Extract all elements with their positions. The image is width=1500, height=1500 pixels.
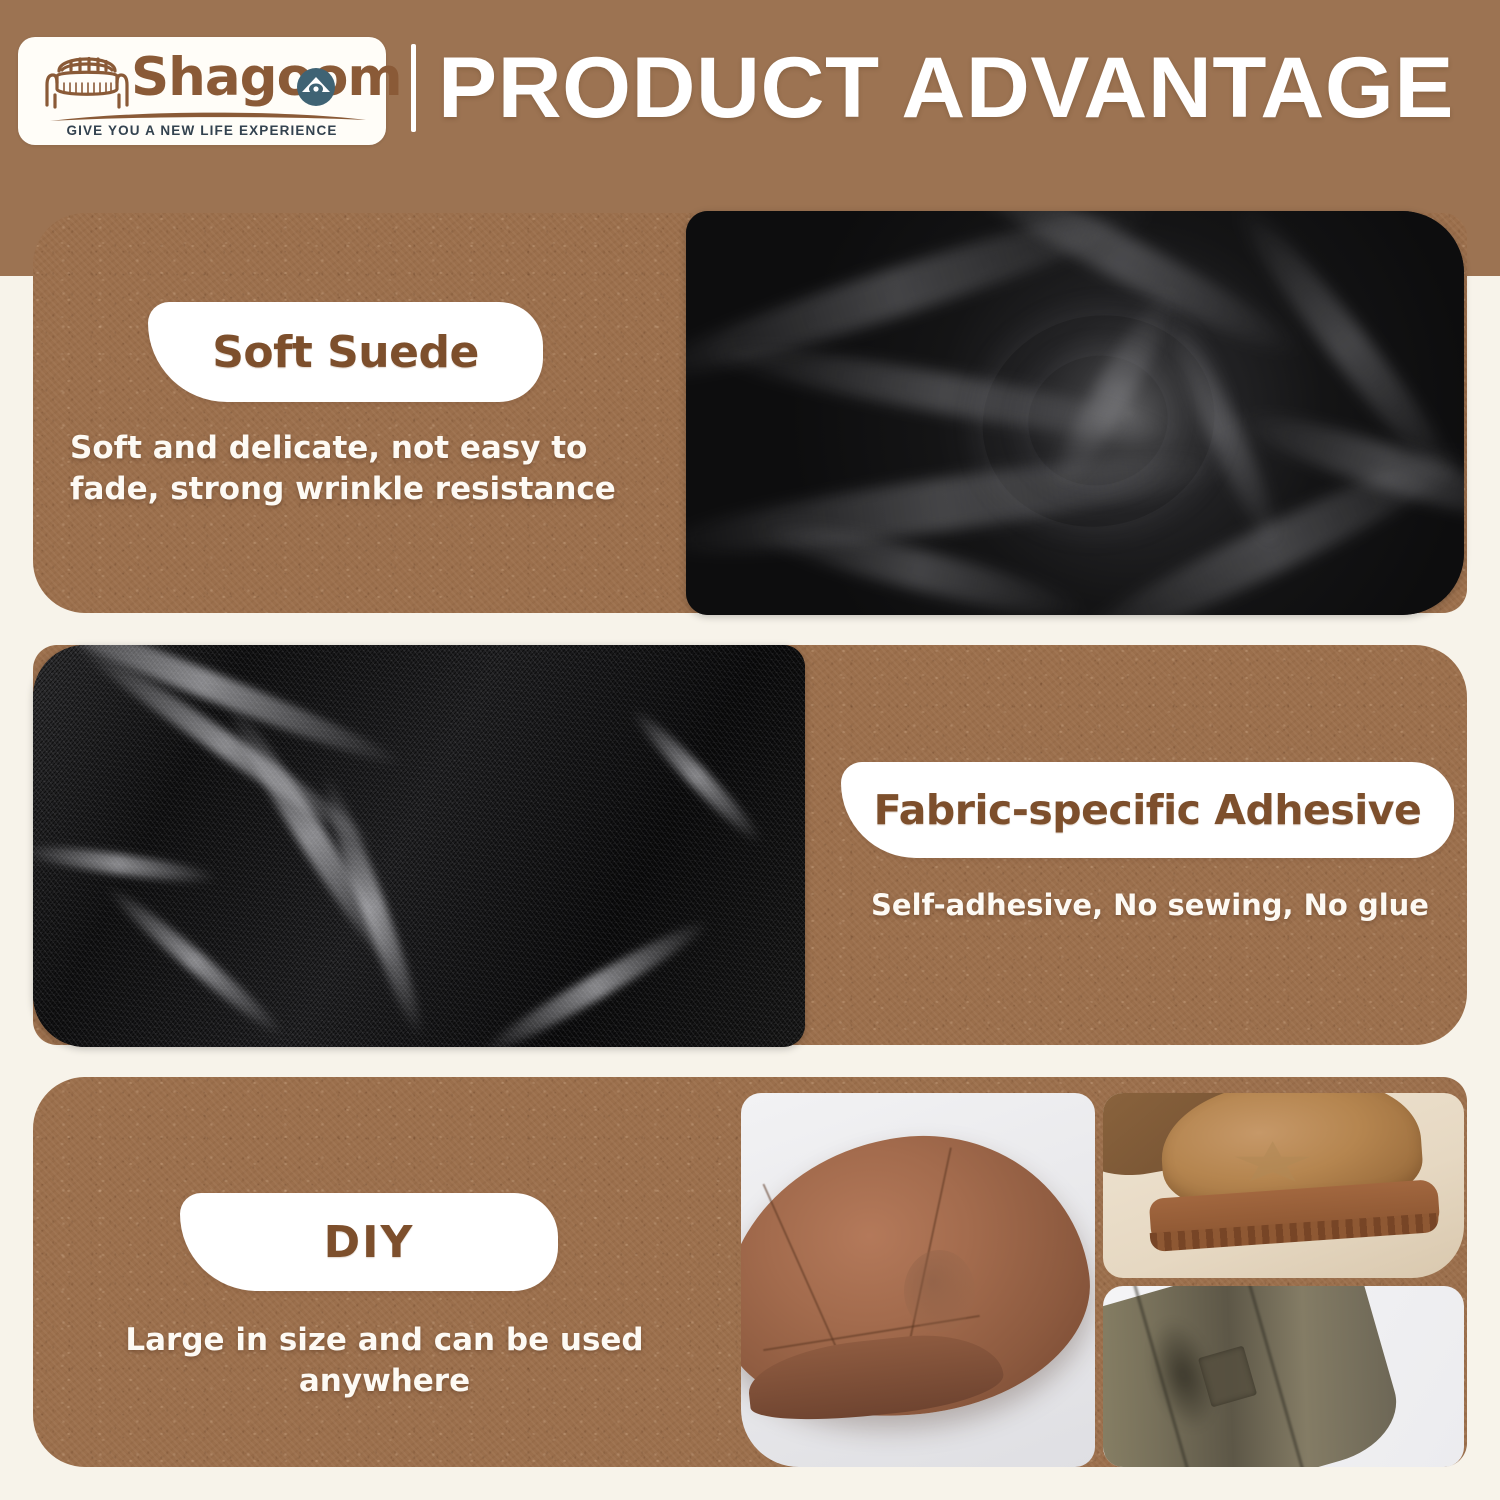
sofa-icon (44, 49, 130, 115)
brand-logo: Shagoom GIVE YOU A NEW LIFE EXPERIENCE (18, 37, 386, 145)
eye-in-circle-icon (296, 67, 336, 107)
photo-flat-cap (741, 1093, 1095, 1467)
photo-olive-garment (1103, 1286, 1464, 1467)
badge-fabric-specific-adhesive: Fabric-specific Adhesive (841, 762, 1454, 858)
image-tan-platform-boot (1103, 1093, 1464, 1278)
badge-label: Soft Suede (212, 327, 479, 378)
logo-brand-text: Shagoom (131, 47, 402, 108)
photo-black-swirl (686, 211, 1464, 615)
image-brown-flat-cap (741, 1093, 1095, 1467)
description-diy: Large in size and can be used anywhere (52, 1320, 717, 1402)
description-soft-suede: Soft and delicate, not easy to fade, str… (70, 428, 670, 510)
page-title: PRODUCT ADVANTAGE (438, 34, 1500, 142)
photo-platform-boot (1103, 1093, 1464, 1278)
image-olive-suede-garment (1103, 1286, 1464, 1467)
badge-soft-suede: Soft Suede (148, 302, 543, 402)
image-black-swirled-suede (686, 211, 1464, 615)
photo-black-velvet (33, 645, 805, 1047)
badge-label: DIY (324, 1217, 415, 1268)
badge-label: Fabric-specific Adhesive (874, 786, 1422, 834)
badge-diy: DIY (180, 1193, 558, 1291)
header-divider (411, 44, 416, 132)
logo-wordmark: Shagoom (131, 45, 381, 111)
description-fabric-specific-adhesive: Self-adhesive, No sewing, No glue (845, 886, 1455, 924)
image-black-velvet-backing (33, 645, 805, 1047)
logo-tagline: GIVE YOU A NEW LIFE EXPERIENCE (18, 123, 386, 138)
product-advantage-infographic: Shagoom GIVE YOU A NEW LIFE EXPERIENCE P… (0, 0, 1500, 1500)
